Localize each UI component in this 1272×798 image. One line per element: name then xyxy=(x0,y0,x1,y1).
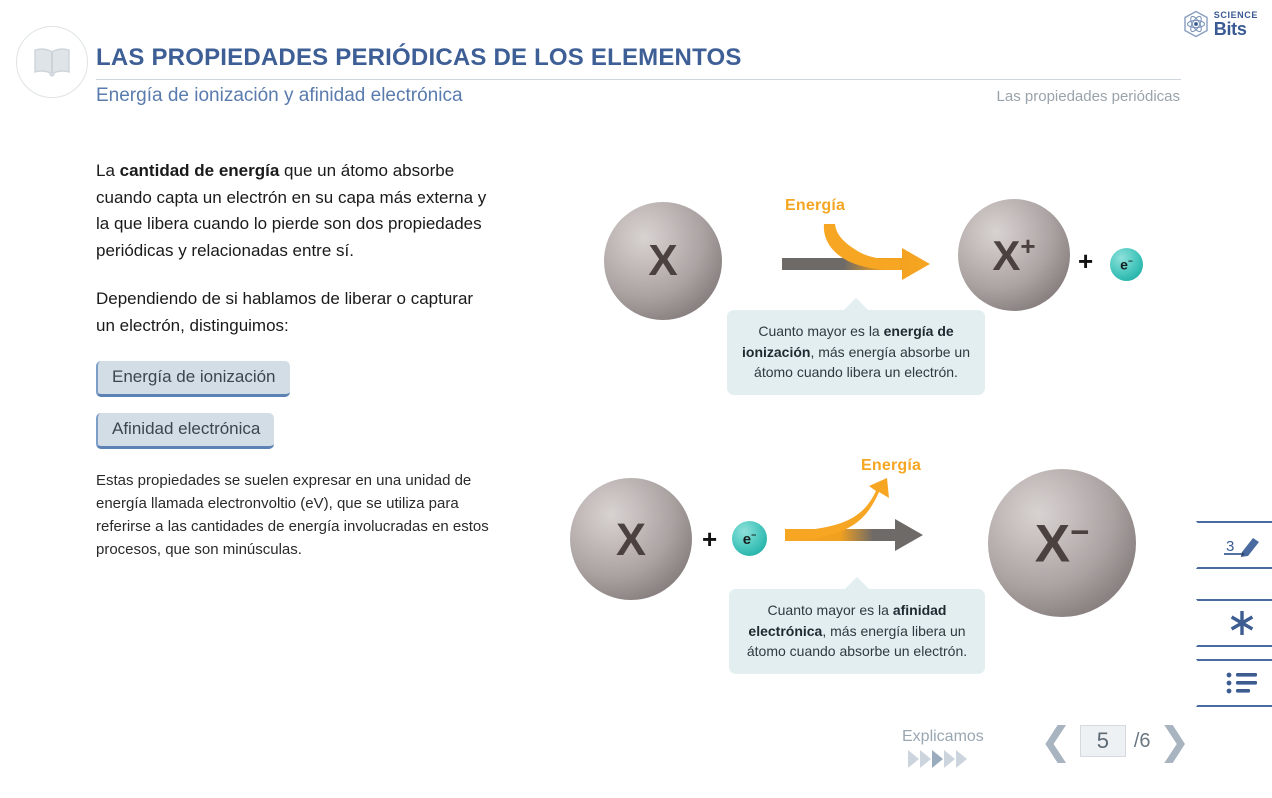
atom-x-cation: X+ xyxy=(958,199,1070,311)
paragraph-1: La cantidad de energía que un átomo abso… xyxy=(96,158,496,264)
next-page-button[interactable]: ❯ xyxy=(1159,722,1191,760)
tooltip-pre: Cuanto mayor es la xyxy=(758,323,883,339)
paragraph-1-bold: cantidad de energía xyxy=(120,161,280,180)
phase-chevron[interactable] xyxy=(956,750,967,768)
open-book-icon xyxy=(16,26,88,98)
electron-label: e− xyxy=(1120,256,1133,273)
science-bits-logo: SCIENCE Bits xyxy=(1183,10,1258,38)
topic-label: Las propiedades periódicas xyxy=(997,88,1180,105)
asterisk-tab[interactable] xyxy=(1196,599,1272,647)
plus-sign-2: + xyxy=(702,524,717,555)
pencil-tab[interactable]: 3 xyxy=(1196,521,1272,569)
slide-root: SCIENCE Bits LAS PROPIEDADES PERIÓDICAS … xyxy=(0,0,1272,798)
phase-chevron[interactable] xyxy=(944,750,955,768)
page-subtitle: Energía de ionización y afinidad electró… xyxy=(96,85,463,107)
list-tab[interactable] xyxy=(1196,659,1272,707)
atom-label: X+ xyxy=(992,233,1035,277)
phase-chevron[interactable] xyxy=(932,750,943,768)
atom-label: X xyxy=(616,517,646,562)
atom-x-neutral-1: X xyxy=(604,202,722,320)
atom-label: X− xyxy=(1035,516,1090,571)
paragraph-2: Dependiendo de si hablamos de liberar o … xyxy=(96,286,496,339)
button-energia-de-ionizacion[interactable]: Energía de ionización xyxy=(96,361,290,397)
pager: ❮ 5 /6 ❯ xyxy=(1040,722,1190,760)
total-pages-label: /6 xyxy=(1134,730,1151,753)
atom-x-anion: X− xyxy=(988,469,1136,617)
page-title: LAS PROPIEDADES PERIÓDICAS DE LOS ELEMEN… xyxy=(96,44,1181,80)
list-icon xyxy=(1211,670,1259,696)
tooltip-afinidad: Cuanto mayor es la afinidad electrónica,… xyxy=(729,589,985,674)
logo-bits-text: Bits xyxy=(1214,20,1258,38)
paragraph-1-pre: La xyxy=(96,161,120,180)
phase-chevron[interactable] xyxy=(908,750,919,768)
asterisk-icon xyxy=(1213,608,1257,638)
prev-page-button[interactable]: ❮ xyxy=(1040,722,1072,760)
energy-arrow-in-1 xyxy=(780,222,935,288)
plus-sign-1: + xyxy=(1078,246,1093,277)
energy-arrow-out-2 xyxy=(783,478,933,558)
tooltip-pre: Cuanto mayor es la xyxy=(768,602,893,618)
pencil-icon: 3 xyxy=(1206,530,1264,560)
current-page-input[interactable]: 5 xyxy=(1080,725,1126,757)
phase-progress xyxy=(908,750,967,768)
phase-chevron[interactable] xyxy=(920,750,931,768)
atom-hexagon-icon xyxy=(1183,10,1209,38)
electron-2: e− xyxy=(732,521,767,556)
pencil-badge-count: 3 xyxy=(1226,538,1234,555)
content-text-column: La cantidad de energía que un átomo abso… xyxy=(96,158,496,583)
atom-x-neutral-2: X xyxy=(570,478,692,600)
energy-label-2: Energía xyxy=(861,457,921,475)
button-afinidad-electronica[interactable]: Afinidad electrónica xyxy=(96,413,274,449)
paragraph-3: Estas propiedades se suelen expresar en … xyxy=(96,469,496,561)
atom-label: X xyxy=(648,239,677,283)
concept-buttons: Energía de ionización Afinidad electróni… xyxy=(96,361,496,465)
electron-label: e− xyxy=(743,530,757,548)
tooltip-ionizacion: Cuanto mayor es la energía de ionización… xyxy=(727,310,985,395)
electron-1: e− xyxy=(1110,248,1143,281)
energy-label-1: Energía xyxy=(785,197,845,215)
phase-label: Explicamos xyxy=(902,728,984,746)
